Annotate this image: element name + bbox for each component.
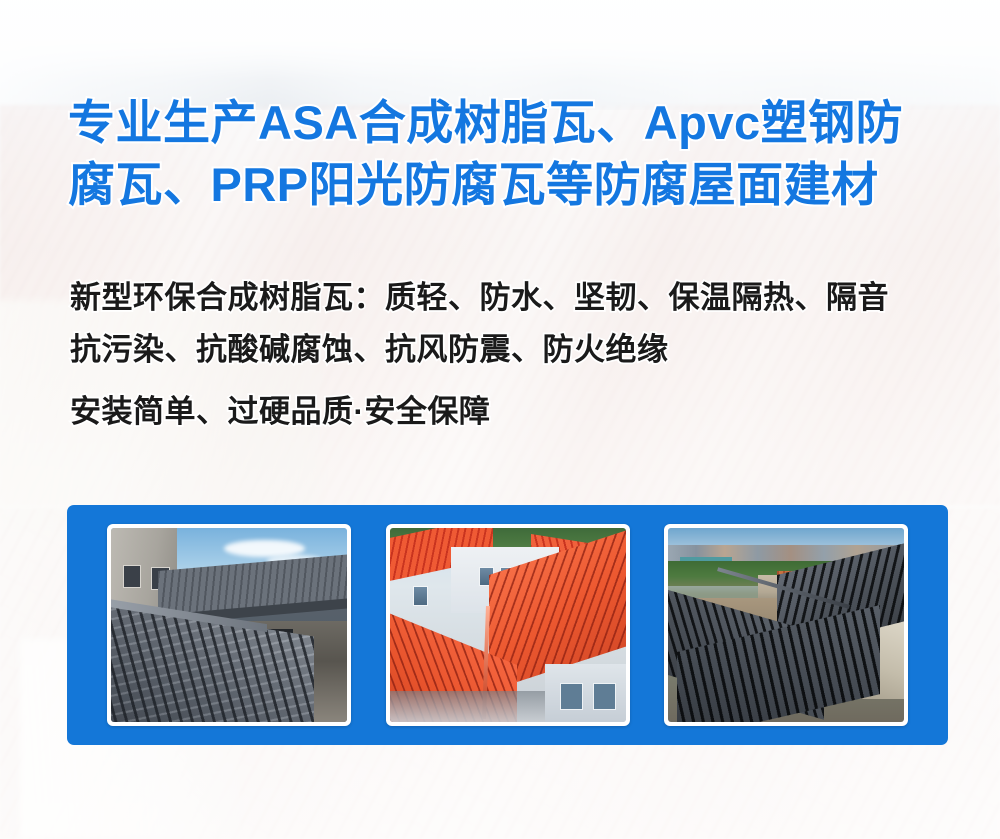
p2-window bbox=[593, 683, 616, 710]
photo-frame-2[interactable] bbox=[386, 524, 630, 726]
p1-window bbox=[123, 565, 142, 588]
photo-panel bbox=[67, 505, 948, 745]
photo-frame-1[interactable] bbox=[107, 524, 351, 726]
photo-grey-resin-tile-roof-courtyard bbox=[111, 528, 347, 722]
photo-frame-3[interactable] bbox=[664, 524, 908, 726]
headline: 专业生产ASA合成树脂瓦、Apvc塑钢防 腐瓦、PRP阳光防腐瓦等防腐屋面建材 bbox=[68, 92, 958, 216]
p2-window bbox=[560, 683, 583, 710]
headline-line-2: 腐瓦、PRP阳光防腐瓦等防腐屋面建材 bbox=[68, 154, 958, 216]
photo-black-resin-tile-roof-village bbox=[668, 528, 904, 722]
headline-line-1: 专业生产ASA合成树脂瓦、Apvc塑钢防 bbox=[68, 92, 958, 154]
subheadline-line-2: 抗污染、抗酸碱腐蚀、抗风防震、防火绝缘 bbox=[70, 324, 970, 376]
p2-window bbox=[413, 586, 428, 605]
subheadline: 新型环保合成树脂瓦：质轻、防水、坚韧、保温隔热、隔音 抗污染、抗酸碱腐蚀、抗风防… bbox=[70, 272, 970, 438]
photo-red-resin-tile-roof-buildings bbox=[390, 528, 626, 722]
promo-banner: 专业生产ASA合成树脂瓦、Apvc塑钢防 腐瓦、PRP阳光防腐瓦等防腐屋面建材 … bbox=[0, 0, 1000, 839]
banner-content: 专业生产ASA合成树脂瓦、Apvc塑钢防 腐瓦、PRP阳光防腐瓦等防腐屋面建材 … bbox=[0, 0, 1000, 839]
subheadline-line-1: 新型环保合成树脂瓦：质轻、防水、坚韧、保温隔热、隔音 bbox=[70, 272, 970, 324]
subheadline-line-3: 安装简单、过硬品质·安全保障 bbox=[70, 386, 970, 438]
